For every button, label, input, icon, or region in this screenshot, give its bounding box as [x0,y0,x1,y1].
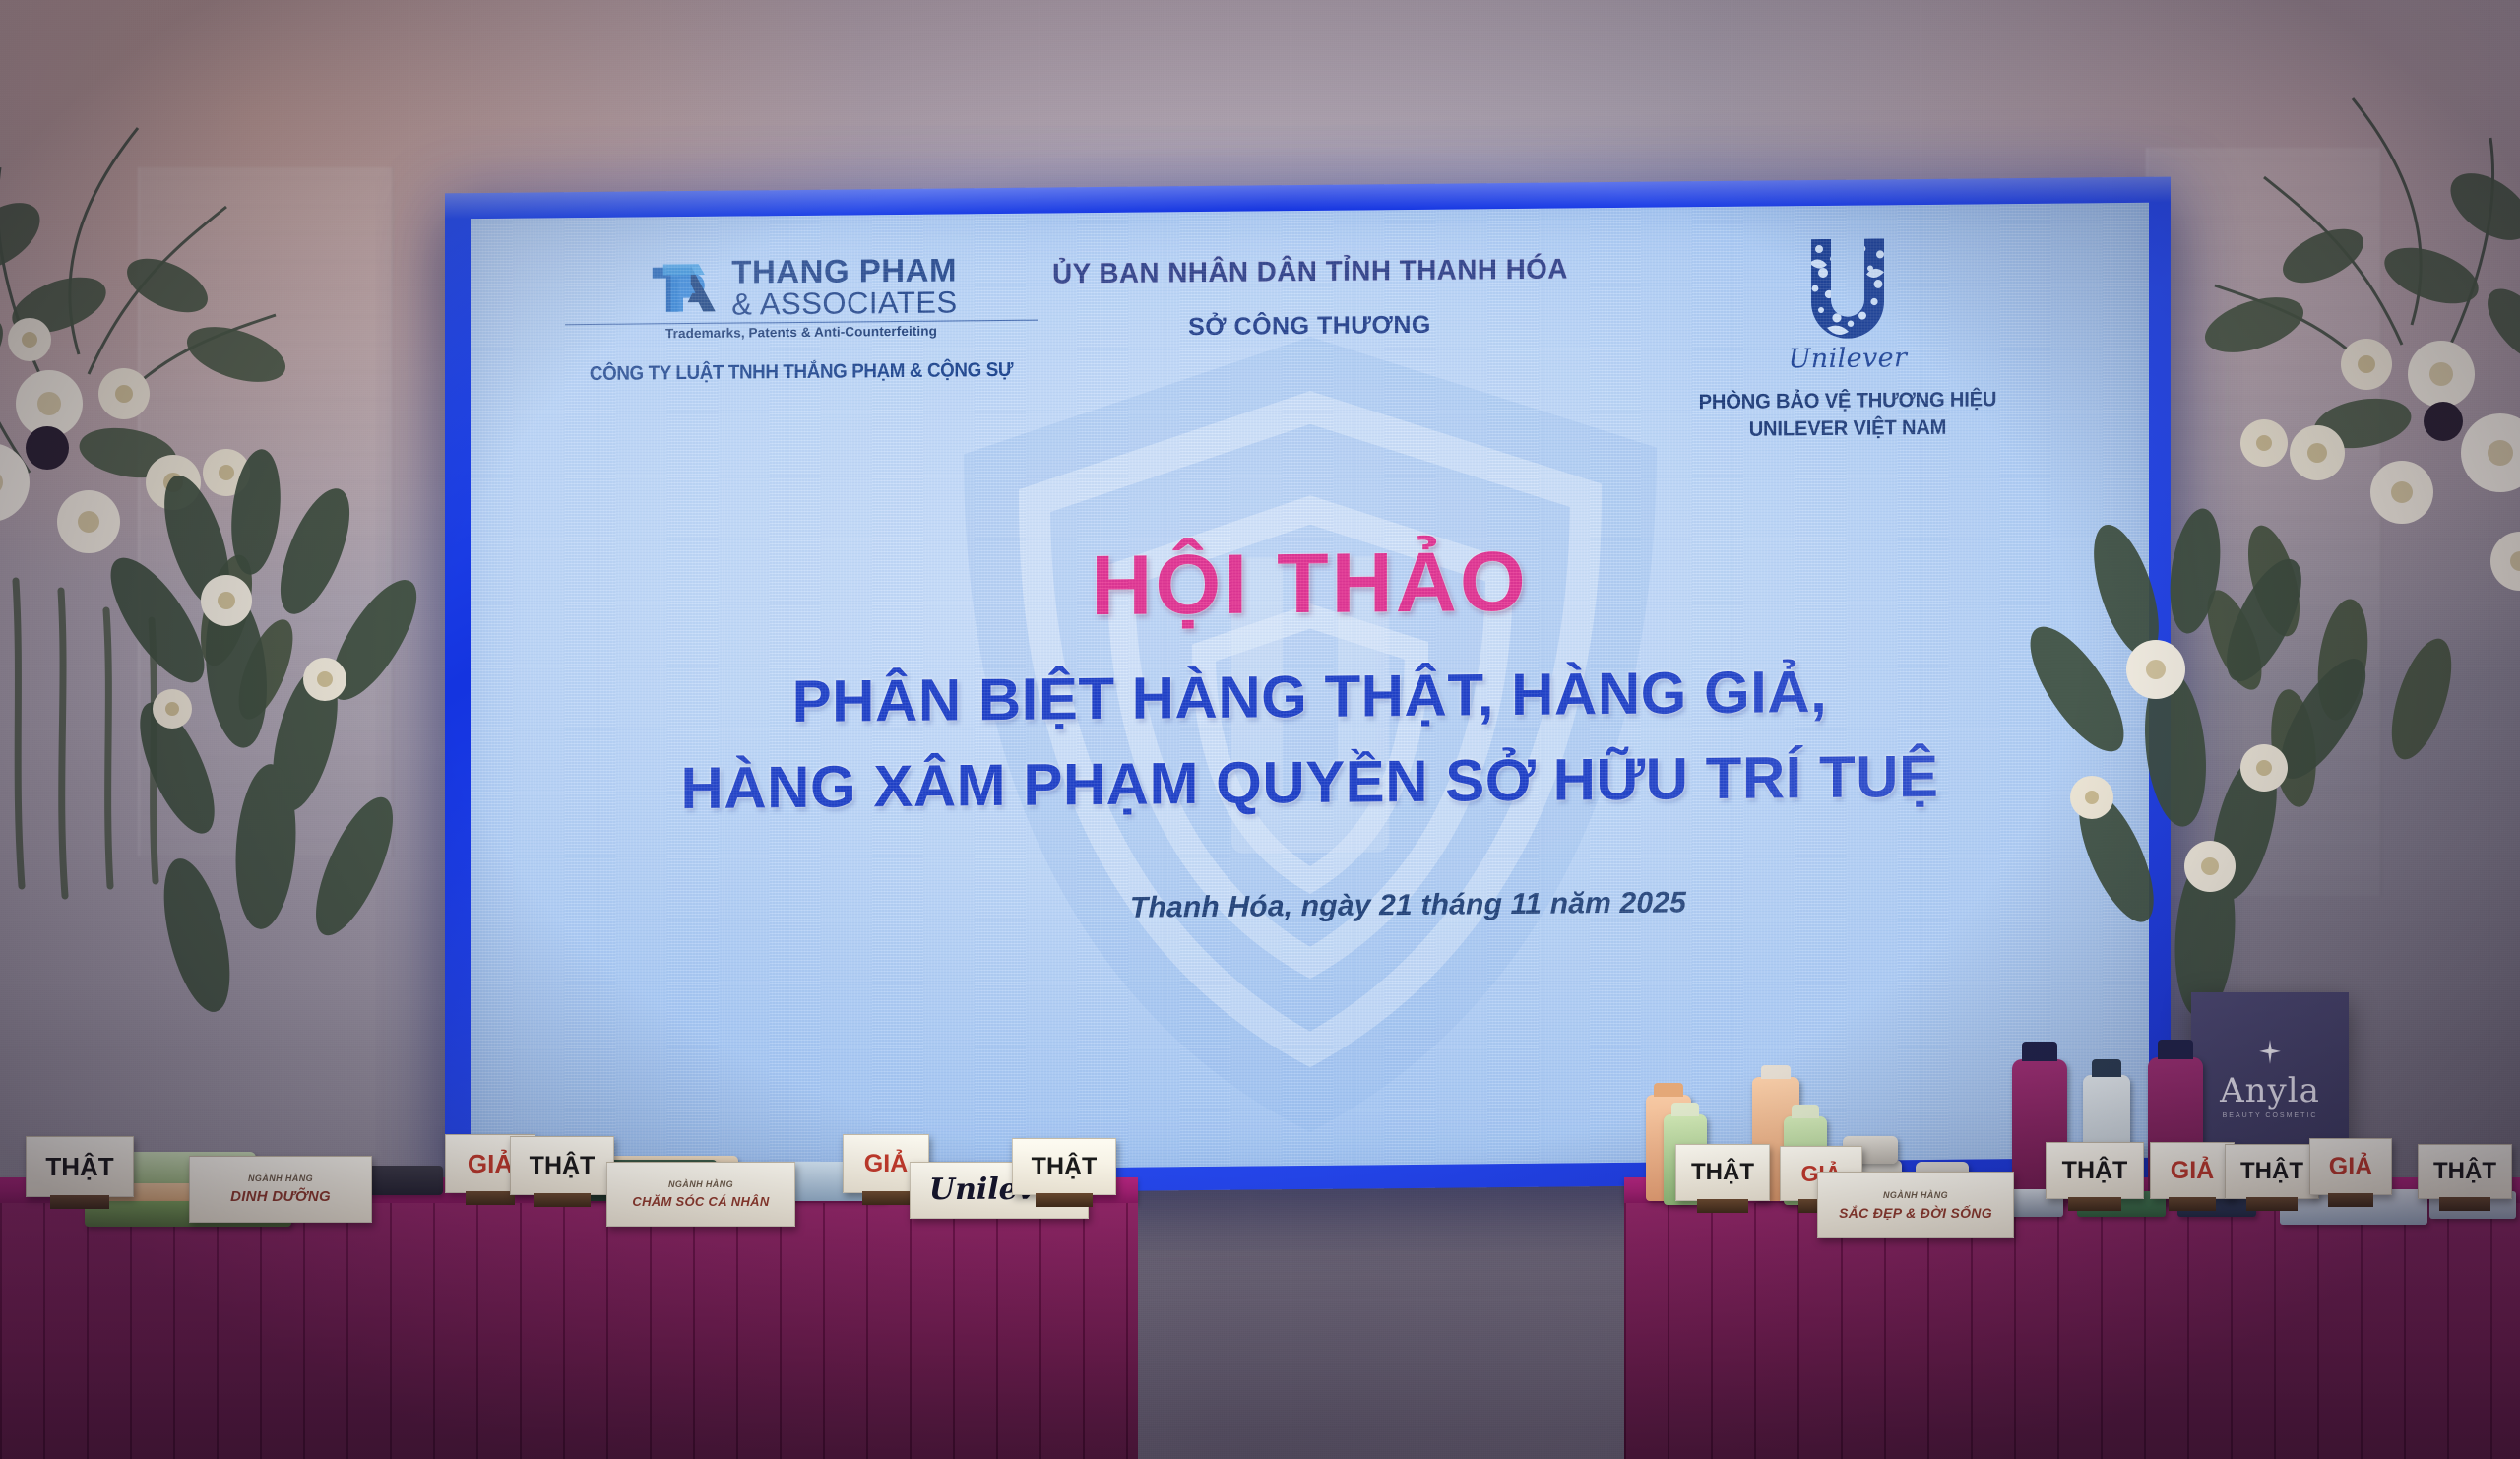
category-card-label: DINH DƯỠNG [230,1189,331,1204]
slide-eyebrow-title: HỘI THẢO [471,528,2149,641]
product-cap [2022,1042,2057,1061]
placard-label: GIẢ [468,1151,513,1176]
unilever-dept-line1: PHÒNG BẢO VỆ THƯƠNG HIỆU [1649,388,2046,415]
placard-that: THẬT [1012,1138,1116,1195]
category-card-eyebrow: NGÀNH HÀNG [248,1174,313,1183]
placard-label: THẬT [1032,1155,1098,1179]
wall-panel-left [138,167,394,856]
org-logo-unilever: Unilever PHÒNG BẢO VỆ THƯƠNG HIỆU UNILEV… [1641,231,2054,443]
placard-leg [50,1195,110,1209]
product-cap [1654,1083,1682,1097]
tpa-vietnamese-name: CÔNG TY LUẬT TNHH THẮNG PHẠM & CỘNG SỰ [579,359,1023,386]
unilever-dept-line2: UNILEVER VIỆT NAM [1649,415,2046,443]
tpa-monogram-icon [645,258,722,320]
placard-that: THẬT [26,1136,134,1197]
placard-label: GIẢ [2171,1159,2214,1183]
placard-leg [1036,1193,1093,1207]
tpa-name-line1: THANG PHAM [731,253,957,288]
placard-gia: GIẢ [2309,1138,2392,1195]
product-cap [1792,1105,1819,1118]
conference-room-photo: THANG PHAM & ASSOCIATES Trademarks, Pate… [0,0,2520,1459]
placard-leg [2068,1197,2122,1211]
unilever-wordmark: Unilever [1641,342,2054,376]
gov-line1: ỦY BAN NHÂN DÂN TỈNH THANH HÓA [957,253,1664,292]
placard-label: THẬT [2240,1160,2303,1183]
wall-panel-right [2146,148,2382,896]
table-skirt-right [1624,1203,2520,1459]
slide-title-block: HỘI THẢO PHÂN BIỆT HÀNG THẬT, HÀNG GIẢ, … [471,528,2149,824]
tpa-name-line2: & ASSOCIATES [731,286,957,320]
slide-header: THANG PHAM & ASSOCIATES Trademarks, Pate… [471,226,2149,469]
placard-leg [2328,1193,2373,1207]
category-card-eyebrow: NGÀNH HÀNG [668,1180,733,1189]
category-card-dinh-duong: NGÀNH HÀNG DINH DƯỠNG [189,1156,372,1223]
unilever-u-icon [1794,232,1902,348]
placard-leg [2246,1197,2299,1211]
product-cap [1671,1103,1699,1116]
product-cap [2158,1040,2193,1059]
category-card-eyebrow: NGÀNH HÀNG [1883,1191,1948,1200]
placard-leg [534,1193,591,1207]
placard-leg [2439,1197,2491,1211]
category-card-label: SẮC ĐẸP & ĐỜI SỐNG [1839,1206,1992,1220]
placard-that: THẬT [2225,1144,2319,1199]
org-government-thanh-hoa: ỦY BAN NHÂN DÂN TỈNH THANH HÓA SỞ CÔNG T… [946,252,1674,344]
placard-leg [466,1191,515,1205]
placard-that: THẬT [2418,1144,2512,1199]
placard-leg [862,1191,910,1205]
slide-title-line1: PHÂN BIỆT HÀNG THẬT, HÀNG GIẢ, [471,655,2149,738]
table-skirt-left [0,1203,1138,1459]
product-cap [1761,1065,1792,1079]
placard-that: THẬT [2046,1142,2144,1199]
anyla-brand-tagline: BEAUTY COSMETIC [2223,1112,2318,1119]
placard-label: THẬT [2062,1159,2128,1183]
presentation-slide: THANG PHAM & ASSOCIATES Trademarks, Pate… [471,203,2149,1174]
sparkle-star-icon [2257,1040,2283,1065]
placard-label: THẬT [45,1154,113,1179]
category-card-cham-soc-ca-nhan: NGÀNH HÀNG CHĂM SÓC CÁ NHÂN [606,1162,795,1227]
category-card-label: CHĂM SÓC CÁ NHÂN [632,1195,769,1208]
slide-title-line2: HÀNG XÂM PHẠM QUYỀN SỞ HỮU TRÍ TUỆ [471,740,2149,824]
placard-label: THẬT [1691,1161,1754,1184]
placard-label: THẬT [530,1154,596,1178]
category-card-sac-dep-doi-song: NGÀNH HÀNG SẮC ĐẸP & ĐỜI SỐNG [1817,1172,2014,1238]
placard-that: THẬT [1675,1144,1770,1201]
placard-label: GIẢ [864,1152,908,1176]
placard-label: GIẢ [2329,1155,2372,1179]
led-screen-frame: THANG PHAM & ASSOCIATES Trademarks, Pate… [445,177,2171,1198]
product-cap [2092,1059,2122,1077]
placard-that: THẬT [510,1136,614,1195]
placard-leg [2169,1197,2215,1211]
placard-leg [1697,1199,1749,1213]
anyla-brand-name: Anyla [2220,1071,2320,1110]
placard-gia: GIẢ [2150,1142,2235,1199]
placard-label: THẬT [2433,1160,2496,1183]
gov-line2: SỞ CÔNG THƯƠNG [946,308,1674,344]
